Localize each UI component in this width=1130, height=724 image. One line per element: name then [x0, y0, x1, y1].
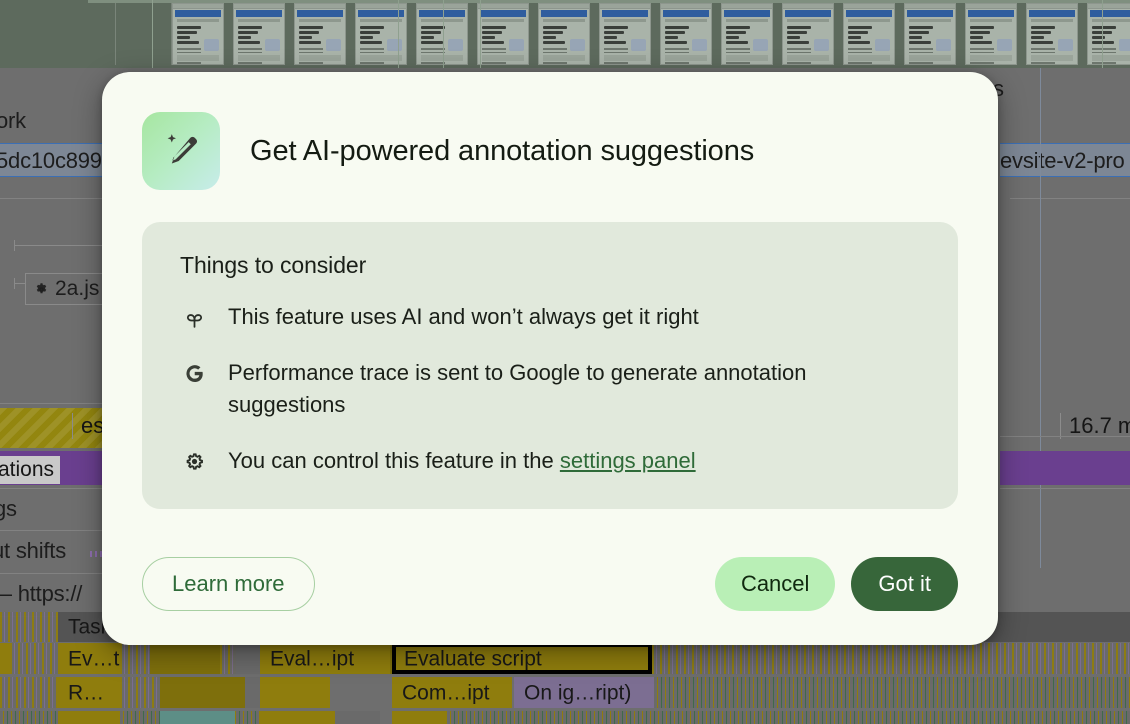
dialog-header: Get AI-powered annotation suggestions	[142, 112, 958, 190]
got-it-button[interactable]: Got it	[851, 557, 958, 611]
consider-item-data-sent: Performance trace is sent to Google to g…	[180, 357, 922, 421]
consider-item-text: Performance trace is sent to Google to g…	[228, 357, 908, 421]
dialog-title: Get AI-powered annotation suggestions	[250, 135, 754, 168]
cancel-button[interactable]: Cancel	[715, 557, 835, 611]
ai-magic-pencil-icon	[142, 112, 220, 190]
dialog-footer: Learn more Cancel Got it	[142, 531, 958, 645]
consider-item-text-before: You can control this feature in the	[228, 448, 560, 473]
things-to-consider-heading: Things to consider	[180, 252, 922, 279]
consider-item-text: You can control this feature in the sett…	[228, 445, 696, 477]
settings-panel-link[interactable]: settings panel	[560, 448, 696, 473]
consider-item-text: This feature uses AI and won’t always ge…	[228, 301, 699, 333]
consider-item-ai-accuracy: This feature uses AI and won’t always ge…	[180, 301, 922, 333]
google-g-icon	[180, 360, 208, 388]
consider-item-settings: You can control this feature in the sett…	[180, 445, 922, 477]
ai-annotation-consent-dialog: Get AI-powered annotation suggestions Th…	[102, 72, 998, 645]
learn-more-button[interactable]: Learn more	[142, 557, 315, 611]
things-to-consider-card: Things to consider This feature uses AI …	[142, 222, 958, 509]
sprout-icon	[180, 304, 208, 332]
gear-icon	[180, 448, 208, 476]
